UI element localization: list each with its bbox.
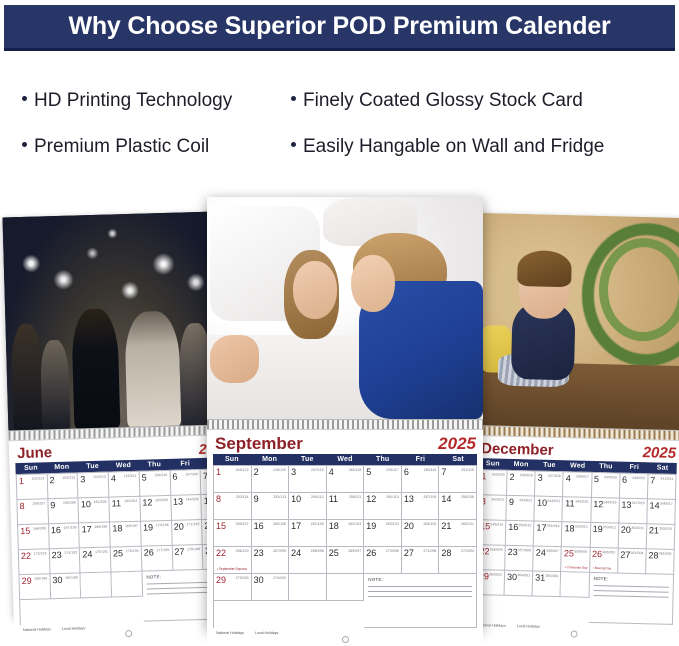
date-number: 23 [52, 550, 62, 560]
date-cell: 27271/095 [402, 547, 440, 574]
date-number: 25 [113, 548, 123, 558]
date-number: 16 [254, 521, 264, 531]
day-of-year: 274/092 [273, 576, 286, 580]
feature-item-1: Finely Coated Glossy Stock Card [291, 90, 583, 112]
date-grid-june: 1152/2142153/2133154/2124155/2115156/210… [16, 468, 236, 625]
date-cell: 30274/092 [252, 574, 290, 601]
date-number: 5 [366, 467, 371, 477]
date-cell: 11162/204 [110, 497, 141, 523]
day-of-year: 157/209 [185, 472, 198, 476]
date-cell-empty [561, 572, 590, 598]
feature-label-1: Finely Coated Glossy Stock Card [303, 90, 583, 112]
date-cell: 21265/101 [439, 520, 477, 547]
day-of-year: 353/012 [603, 525, 616, 529]
date-number: 25 [329, 548, 339, 558]
date-cell: 17261/105 [289, 520, 327, 547]
date-number: 9 [254, 494, 259, 504]
date-cell: 25176/190 [111, 547, 142, 573]
date-number: 19 [593, 524, 603, 534]
date-cell: 20171/195 [172, 520, 203, 546]
hang-hole-icon [342, 636, 349, 643]
date-number: 12 [593, 499, 603, 509]
date-cell: 22266/100• September Equinox [214, 547, 252, 574]
date-cell: 17168/198 [79, 523, 110, 549]
day-of-year: 175/191 [95, 550, 108, 554]
date-number: 6 [172, 472, 177, 482]
date-cell: 5156/210 [140, 471, 171, 497]
date-number: 20 [174, 522, 184, 532]
day-of-year: 348/017 [660, 502, 673, 506]
date-cell-empty [81, 573, 112, 599]
day-of-year: 351/014 [547, 524, 560, 528]
day-of-year: 273/093 [236, 576, 249, 580]
day-of-year: 155/211 [124, 474, 137, 478]
date-number: 6 [622, 475, 627, 485]
date-cell: 10344/021 [535, 497, 564, 523]
weekday-tue: Tue [535, 460, 564, 472]
date-number: 31 [535, 573, 545, 583]
date-number: 28 [441, 548, 451, 558]
date-number: 22 [21, 551, 31, 561]
date-cell: 13164/202 [171, 495, 202, 521]
spiral-coil-binding [207, 419, 483, 430]
date-cell: 27178/188 [172, 545, 203, 571]
date-number: 1 [216, 467, 221, 477]
toddler-with-wreath-photo [474, 213, 679, 430]
date-cell: 23357/008 [505, 546, 534, 572]
day-of-year: 254/112 [311, 495, 324, 499]
date-number: 19 [143, 522, 153, 532]
date-number: 23 [254, 548, 264, 558]
date-cell: 17351/014 [534, 522, 563, 548]
legend-national: National Holidays [23, 627, 51, 632]
weekday-fri: Fri [170, 458, 201, 470]
note-line [368, 596, 472, 597]
date-number: 6 [404, 467, 409, 477]
bullet-dot-icon [291, 96, 296, 101]
day-of-year: 342/023 [491, 497, 504, 501]
month-label: December [481, 441, 554, 458]
date-cell: 31365/000 [533, 571, 562, 597]
date-cell: 6250/116 [402, 466, 440, 493]
day-of-year: 347/018 [632, 501, 645, 505]
date-number: 8 [19, 501, 24, 511]
weekday-tue: Tue [77, 461, 108, 473]
date-cell: 2153/213 [47, 473, 78, 499]
day-of-year: 262/104 [348, 522, 361, 526]
date-number: 3 [80, 474, 85, 484]
date-number: 30 [507, 572, 517, 582]
note-line [368, 586, 472, 587]
day-of-year: 260/110 [386, 495, 399, 499]
note-area[interactable]: NOTE: [588, 573, 674, 625]
day-of-year: 264/102 [423, 522, 436, 526]
date-cell: 19353/012 [590, 523, 619, 549]
weekday-tue: Tue [288, 454, 326, 465]
day-of-year: 258/108 [461, 495, 474, 499]
day-of-year: 167/199 [64, 525, 77, 529]
date-number: 4 [111, 473, 116, 483]
date-cell: 25359/006• Christmas Day [562, 547, 591, 573]
date-cell-empty [327, 574, 365, 601]
wedding-sparklers-photo [3, 211, 237, 430]
date-number: 2 [49, 475, 54, 485]
date-number: 5 [142, 473, 147, 483]
weekday-header-september: Sun Mon Tue Wed Thu Fri Sat [213, 454, 477, 465]
date-number: 10 [291, 494, 301, 504]
date-cell: 12163/203 [140, 496, 171, 522]
legend-national: National Holidays [216, 631, 244, 635]
date-cell: 18262/104 [327, 520, 365, 547]
date-cell: 8252/114 [214, 493, 252, 520]
weekday-sat: Sat [439, 454, 477, 465]
weekday-wed: Wed [108, 460, 139, 472]
weekday-wed: Wed [326, 454, 364, 465]
day-of-year: 357/008 [518, 548, 531, 552]
calendar-page-september: September 2025 Sun Mon Tue Wed Thu Fri S… [207, 430, 483, 646]
note-line [593, 590, 668, 593]
month-label: June [17, 445, 52, 461]
bullet-dot-icon [22, 142, 27, 147]
date-number: 18 [564, 523, 574, 533]
weekday-sun: Sun [15, 462, 46, 474]
weekday-mon: Mon [507, 459, 536, 471]
date-cell: 9343/022 [506, 496, 535, 522]
day-of-year: 341/024 [660, 477, 673, 481]
day-of-year: 352/013 [575, 524, 588, 528]
date-cell: 9160/206 [48, 498, 79, 524]
date-number: 24 [536, 548, 546, 558]
day-of-year: 177/189 [156, 548, 169, 552]
feature-item-3: Easily Hangable on Wall and Fridge [291, 136, 604, 158]
day-of-year: 170/196 [156, 523, 169, 527]
day-of-year: 253/113 [273, 495, 286, 499]
feature-item-2: Premium Plastic Coil [22, 136, 209, 158]
date-number: 2 [254, 467, 259, 477]
date-cell: 8159/207 [17, 499, 48, 525]
date-number: 18 [329, 521, 339, 531]
day-of-year: 350/015 [519, 523, 532, 527]
date-cell: 1335/030 [479, 470, 508, 496]
day-of-year: 359/006 [574, 549, 587, 553]
feature-list: HD Printing Technology Finely Coated Glo… [0, 78, 679, 173]
date-number: 27 [174, 546, 184, 556]
day-of-year: 354/011 [631, 526, 644, 530]
day-of-year: 174/192 [64, 550, 77, 554]
date-cell: 27361/004 [618, 549, 647, 575]
date-number: 13 [621, 500, 631, 510]
weekday-mon: Mon [46, 461, 77, 473]
date-number: 2 [509, 472, 514, 482]
holiday-legend-september: National Holidays Local Holidays [213, 628, 477, 635]
date-cell: 28362/003 [646, 549, 675, 575]
day-of-year: 344/021 [547, 499, 560, 503]
date-number: 28 [648, 550, 658, 560]
feature-item-0: HD Printing Technology [22, 90, 232, 112]
date-cell: 13257/109 [402, 493, 440, 520]
date-cell: 2245/120 [252, 466, 290, 493]
day-of-year: 349/016 [490, 522, 503, 526]
day-of-year: 176/190 [126, 549, 139, 553]
date-cell: 20354/011 [618, 524, 647, 550]
date-number: 26 [144, 547, 154, 557]
date-cell: 30364/001 [505, 571, 534, 597]
date-number: 14 [649, 500, 659, 510]
day-of-year: 343/022 [519, 498, 532, 502]
page-title: Why Choose Superior POD Premium Calender [68, 12, 610, 41]
date-number: 10 [81, 499, 91, 509]
calendar-right-december: December 2025 Sun Mon Tue Wed Thu Fri Sa… [469, 213, 679, 616]
date-cell: 6340/025 [620, 474, 649, 500]
day-of-year: 178/188 [187, 547, 200, 551]
note-label: NOTE: [593, 576, 669, 583]
date-cell: 7341/024 [648, 474, 677, 500]
day-of-year: 356/009 [490, 547, 503, 551]
date-number: 3 [538, 473, 543, 483]
date-number: 7 [441, 467, 446, 477]
date-cell: 4155/211 [109, 472, 140, 498]
date-cell: 15166/200 [18, 524, 49, 550]
day-of-year: 248/118 [349, 468, 362, 472]
date-number: 17 [536, 523, 546, 533]
holiday-event-label: • Christmas Day [565, 565, 588, 570]
date-number: 9 [50, 500, 55, 510]
day-of-year: 358/007 [546, 549, 559, 553]
note-line [593, 595, 668, 598]
day-of-year: 249/117 [386, 468, 399, 472]
feature-label-0: HD Printing Technology [34, 90, 232, 112]
hang-hole-icon [125, 630, 132, 637]
day-of-year: 361/004 [630, 551, 643, 555]
note-area[interactable]: NOTE: [364, 574, 477, 628]
date-cell: 19170/196 [141, 521, 172, 547]
day-of-year: 168/198 [94, 525, 107, 529]
date-number: 17 [291, 521, 301, 531]
bullet-dot-icon [22, 96, 27, 101]
day-of-year: 345/020 [575, 500, 588, 504]
day-of-year: 339/026 [604, 475, 617, 479]
day-of-year: 247/119 [311, 468, 324, 472]
date-number: 7 [650, 475, 655, 485]
date-number: 19 [366, 521, 376, 531]
calendar-left-june: June 2025 Sun Mon Tue Wed Thu Fri Sat 11… [3, 211, 242, 617]
date-cell: 3337/028 [535, 472, 564, 498]
calendar-title-row-september: September 2025 [213, 434, 477, 454]
day-of-year: 267/099 [273, 549, 286, 553]
day-of-year: 160/206 [63, 501, 76, 505]
weekday-sat: Sat [648, 462, 677, 474]
date-cell: 11345/020 [563, 497, 592, 523]
date-number: 16 [51, 525, 61, 535]
date-number: 23 [508, 547, 518, 557]
date-cell: 14348/017 [647, 499, 676, 525]
date-cell: 18352/013 [562, 522, 591, 548]
day-of-year: 363/002 [489, 572, 502, 576]
bullet-dot-icon [291, 142, 296, 147]
holiday-event-label: • Boxing Day [593, 566, 611, 570]
date-cell: 22173/193 [19, 549, 50, 575]
date-cell: 16260/106 [252, 520, 290, 547]
date-number: 11 [329, 494, 338, 504]
date-cell: 19263/103 [364, 520, 402, 547]
day-of-year: 251/115 [461, 468, 474, 472]
date-number: 17 [82, 524, 92, 534]
weekday-fri: Fri [402, 454, 440, 465]
day-of-year: 169/197 [125, 524, 138, 528]
day-of-year: 266/100 [236, 549, 249, 553]
date-number: 21 [649, 525, 659, 535]
date-cell: 5339/026 [591, 473, 620, 499]
date-number: 11 [565, 498, 575, 508]
day-of-year: 355/010 [659, 527, 672, 531]
day-of-year: 173/193 [34, 551, 47, 555]
header-banner: Why Choose Superior POD Premium Calender [4, 5, 675, 51]
date-cell: 26177/189 [142, 546, 173, 572]
feature-label-2: Premium Plastic Coil [34, 136, 209, 158]
date-cell: 23267/099 [252, 547, 290, 574]
date-number: 26 [592, 549, 602, 559]
day-of-year: 260/106 [273, 522, 286, 526]
date-number: 5 [594, 474, 599, 484]
day-of-year: 265/101 [461, 522, 474, 526]
date-cell: 1244/122 [214, 466, 252, 493]
date-number: 4 [566, 473, 571, 483]
date-number: 16 [508, 522, 518, 532]
date-number: 20 [621, 525, 631, 535]
date-cell: 5249/117 [364, 466, 402, 493]
day-of-year: 272/094 [461, 549, 474, 553]
date-cell: 4248/118 [327, 466, 365, 493]
date-cell: 29180/186 [19, 574, 50, 600]
day-of-year: 269/097 [348, 549, 361, 553]
date-cell: 4338/027 [563, 472, 592, 498]
date-number: 30 [52, 575, 62, 585]
date-number: 27 [404, 548, 414, 558]
date-number: 15 [216, 521, 226, 531]
date-cell: 21355/010 [647, 524, 676, 550]
date-cell: 3154/212 [78, 473, 109, 499]
date-cell: 15259/107 [214, 520, 252, 547]
date-number: 26 [366, 548, 376, 558]
day-of-year: 271/095 [423, 549, 436, 553]
date-cell: 26360/005• Boxing Day [590, 548, 619, 574]
day-of-year: 360/005 [602, 550, 615, 554]
date-cell-empty [112, 572, 143, 598]
date-number: 12 [142, 497, 152, 507]
day-of-year: 250/116 [424, 468, 437, 472]
hang-hole-icon [570, 630, 577, 637]
date-number: 9 [509, 497, 514, 507]
day-of-year: 268/098 [311, 549, 324, 553]
date-cell: 3247/119 [289, 466, 327, 493]
holiday-event-label: • September Equinox [217, 567, 247, 571]
date-cell: 18169/197 [110, 522, 141, 548]
date-cell: 14258/108 [439, 493, 477, 520]
date-number: 15 [20, 526, 30, 536]
calendar-center-september: September 2025 Sun Mon Tue Wed Thu Fri S… [207, 197, 483, 629]
date-cell: 30181/185 [50, 573, 81, 599]
date-cell: 13347/018 [619, 499, 648, 525]
date-number: 30 [254, 575, 264, 585]
date-cell: 20264/102 [402, 520, 440, 547]
date-number: 21 [441, 521, 451, 531]
weekday-thu: Thu [592, 461, 621, 473]
date-number: 24 [291, 548, 301, 558]
date-cell: 7251/115 [439, 466, 477, 493]
day-of-year: 180/186 [34, 576, 47, 580]
day-of-year: 181/185 [65, 575, 78, 579]
weekday-fri: Fri [620, 462, 649, 474]
date-number: 3 [291, 467, 296, 477]
weekday-thu: Thu [364, 454, 402, 465]
calendar-page-december: December 2025 Sun Mon Tue Wed Thu Fri Sa… [468, 436, 679, 643]
date-cell: 9253/113 [252, 493, 290, 520]
day-of-year: 153/213 [62, 476, 75, 480]
date-cell: 10161/205 [79, 498, 110, 524]
day-of-year: 259/107 [236, 522, 249, 526]
date-cell: 28272/094 [439, 547, 477, 574]
date-number: 12 [366, 494, 376, 504]
day-of-year: 162/204 [124, 499, 137, 503]
date-number: 24 [82, 549, 92, 559]
year-label: 2025 [438, 435, 476, 452]
legend-local: Local Holidays [255, 631, 278, 635]
day-of-year: 261/105 [311, 522, 324, 526]
day-of-year: 164/202 [186, 497, 199, 501]
date-number: 25 [564, 548, 574, 558]
date-cell: 16167/199 [49, 523, 80, 549]
date-number: 10 [537, 498, 547, 508]
date-number: 20 [404, 521, 414, 531]
date-number: 13 [404, 494, 414, 504]
day-of-year: 263/103 [386, 522, 399, 526]
date-cell: 1152/214 [17, 474, 48, 500]
note-label: NOTE: [368, 577, 472, 582]
month-label: September [215, 435, 303, 452]
day-of-year: 166/200 [33, 526, 46, 530]
date-cell: 23174/192 [49, 548, 80, 574]
date-cell: 29273/093 [214, 574, 252, 601]
date-cell: 24268/098 [289, 547, 327, 574]
date-grid-september: 1244/1222245/1203247/1194248/1185249/117… [213, 465, 477, 628]
day-of-year: 152/214 [31, 476, 44, 480]
date-cell: 10254/112 [289, 493, 327, 520]
day-of-year: 335/030 [492, 472, 505, 476]
day-of-year: 338/027 [576, 475, 589, 479]
weekday-thu: Thu [139, 459, 170, 471]
day-of-year: 270/096 [386, 549, 399, 553]
day-of-year: 336/029 [520, 473, 533, 477]
day-of-year: 171/195 [186, 522, 199, 526]
day-of-year: 159/207 [32, 501, 45, 505]
date-cell: 12260/110 [364, 493, 402, 520]
date-number: 1 [19, 476, 24, 486]
calendar-showcase: June 2025 Sun Mon Tue Wed Thu Fri Sat 11… [0, 185, 679, 638]
date-cell: 26270/096 [364, 547, 402, 574]
day-of-year: 252/114 [236, 495, 249, 499]
date-cell: 2336/029 [507, 471, 536, 497]
date-number: 11 [112, 498, 122, 508]
day-of-year: 245/120 [273, 468, 286, 472]
couple-on-bed-photo [207, 197, 483, 419]
day-of-year: 346/019 [604, 500, 617, 504]
day-of-year: 244/122 [236, 468, 249, 472]
day-of-year: 365/000 [545, 574, 558, 578]
weekday-sun: Sun [213, 454, 251, 465]
date-number: 4 [329, 467, 334, 477]
date-number: 14 [441, 494, 451, 504]
feature-label-3: Easily Hangable on Wall and Fridge [303, 136, 604, 158]
